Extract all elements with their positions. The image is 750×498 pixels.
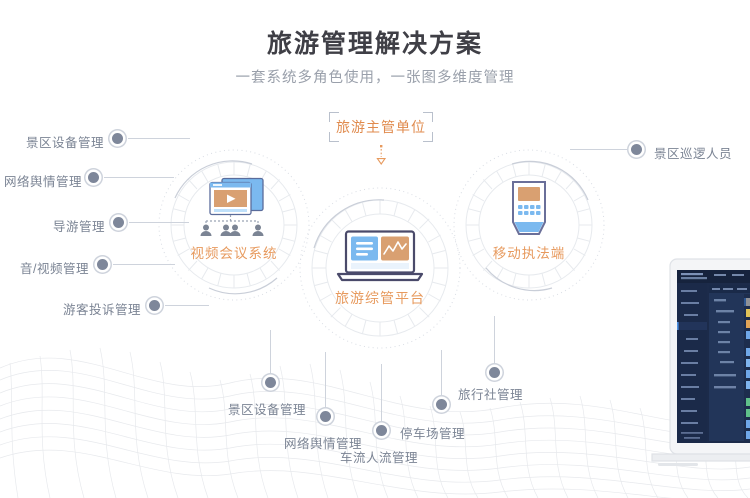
connector-dot-left-4[interactable] bbox=[97, 259, 108, 270]
connector-dot-bottom-4[interactable] bbox=[436, 399, 447, 410]
connector-dot-left-5[interactable] bbox=[149, 300, 160, 311]
connector-line-left-2 bbox=[104, 177, 174, 178]
bottom-item-label-4: 停车场管理 bbox=[400, 423, 465, 442]
page-subtitle: 一套系统多角色使用，一张图多维度管理 bbox=[0, 66, 750, 87]
connector-dot-bottom-5[interactable] bbox=[489, 367, 500, 378]
left-item-label-4: 音/视频管理 bbox=[0, 258, 89, 277]
mobile-enforcement-icon bbox=[503, 180, 555, 238]
connector-dot-left-3[interactable] bbox=[113, 217, 124, 228]
left-item-label-5: 游客投诉管理 bbox=[0, 299, 141, 318]
connector-line-left-3 bbox=[129, 222, 189, 223]
authority-badge[interactable]: 旅游主管单位 bbox=[330, 113, 432, 141]
connector-line-bottom-4 bbox=[441, 350, 442, 400]
connector-dot-bottom-1[interactable] bbox=[265, 377, 276, 388]
video-conference-icon bbox=[196, 176, 274, 238]
bottom-item-label-1: 景区设备管理 bbox=[228, 399, 306, 418]
left-item-label-1: 景区设备管理 bbox=[0, 132, 104, 151]
connector-dot-bottom-2[interactable] bbox=[320, 411, 331, 422]
node-right-label: 移动执法端 bbox=[452, 242, 606, 262]
solution-diagram-page: 旅游管理解决方案 一套系统多角色使用，一张图多维度管理 旅游主管单位 bbox=[0, 0, 750, 498]
connector-dot-left-1[interactable] bbox=[112, 133, 123, 144]
connector-line-right-1 bbox=[570, 149, 632, 150]
right-item-label-1: 景区巡逻人员 bbox=[654, 143, 732, 162]
page-title: 旅游管理解决方案 bbox=[0, 24, 750, 60]
node-left-label: 视频会议系统 bbox=[157, 242, 311, 262]
connector-line-bottom-3 bbox=[381, 364, 382, 426]
bottom-item-label-5: 旅行社管理 bbox=[458, 384, 523, 403]
connector-line-left-4 bbox=[113, 264, 175, 265]
laptop-dashboard-mockup bbox=[648, 258, 750, 498]
node-center-label: 旅游综管平台 bbox=[298, 288, 462, 308]
connector-line-left-1 bbox=[128, 138, 190, 139]
left-item-label-3: 导游管理 bbox=[0, 216, 105, 235]
connector-line-bottom-5 bbox=[494, 316, 495, 368]
connector-line-left-5 bbox=[165, 305, 209, 306]
left-item-label-2: 网络舆情管理 bbox=[0, 171, 82, 190]
connector-line-bottom-1 bbox=[270, 330, 271, 378]
badge-down-arrow-icon bbox=[372, 145, 390, 167]
connector-dot-left-2[interactable] bbox=[88, 172, 99, 183]
bottom-item-label-3: 车流人流管理 bbox=[340, 447, 418, 466]
connector-line-bottom-2 bbox=[325, 352, 326, 412]
connector-dot-bottom-3[interactable] bbox=[376, 425, 387, 436]
connector-dot-right-1[interactable] bbox=[631, 144, 642, 155]
laptop-platform-icon bbox=[334, 230, 426, 286]
authority-badge-label: 旅游主管单位 bbox=[330, 113, 432, 141]
